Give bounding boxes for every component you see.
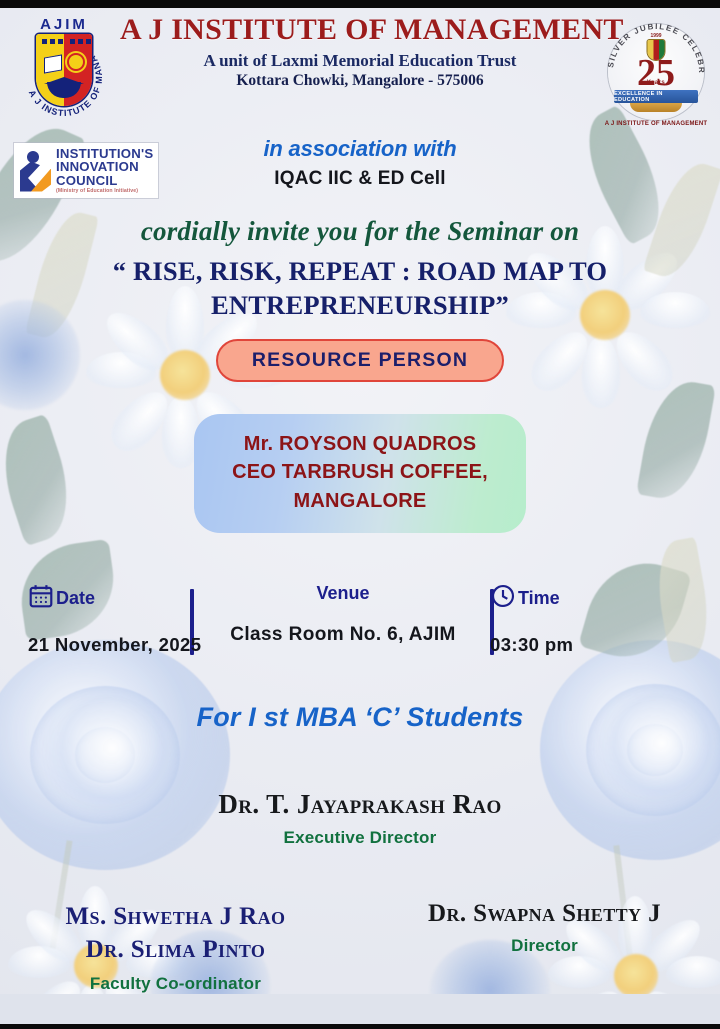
institute-name: A J INSTITUTE OF MANAGEMENT <box>120 14 600 46</box>
executive-director-name: Dr. T. Jayaprakash Rao <box>0 789 720 820</box>
jubilee-badge-icon: SILVER JUBILEE CELEBRATIONS 1999 25 Year… <box>600 18 712 126</box>
iic-line-2: INNOVATION <box>56 160 153 173</box>
venue-value: Class Room No. 6, AJIM <box>228 624 458 646</box>
iic-logo-text: INSTITUTION'S INNOVATION COUNCIL (Minist… <box>56 147 153 195</box>
signatory-coordinators: Ms. Shwetha J Rao Dr. Slima Pinto Facult… <box>6 900 365 994</box>
speaker-name: Mr. ROYSON QUADROS <box>210 430 510 458</box>
signatory-director: Dr. Swapna Shetty J Director <box>365 900 714 994</box>
resource-person-row: RESOURCE PERSON <box>0 339 720 382</box>
venue-block: Venue Class Room No. 6, AJIM <box>228 583 458 646</box>
time-label: Time <box>518 588 560 609</box>
speaker-card: Mr. ROYSON QUADROS CEO TARBRUSH COFFEE, … <box>194 414 526 533</box>
coordinator-name-1: Ms. Shwetha J Rao <box>6 900 345 933</box>
speaker-designation: CEO TARBRUSH COFFEE, <box>210 458 510 486</box>
top-edge-strip <box>0 0 720 8</box>
event-details-row: Date 21 November, 2025 Venue Class Room … <box>0 583 720 656</box>
bottom-edge-strip <box>0 1024 720 1029</box>
iic-subtitle: (Ministry of Education Initiative) <box>56 189 153 194</box>
jubilee-bottom-text: A J INSTITUTE OF MANAGEMENT <box>600 121 712 127</box>
poster-header: A J INSTITUTE OF MANAGEMENT AJIM <box>0 0 720 130</box>
resource-person-badge: RESOURCE PERSON <box>216 339 504 382</box>
date-block: Date 21 November, 2025 <box>10 583 228 656</box>
seminar-title-line-1: “ RISE, RISK, REPEAT : ROAD MAP TO <box>56 255 664 289</box>
jubilee-years-label: Years <box>600 80 712 86</box>
speaker-row: Mr. ROYSON QUADROS CEO TARBRUSH COFFEE, … <box>0 414 720 533</box>
silver-jubilee-logo: SILVER JUBILEE CELEBRATIONS 1999 25 Year… <box>600 18 712 126</box>
iic-mark-icon <box>18 149 52 193</box>
invite-line: cordially invite you for the Seminar on <box>0 216 720 247</box>
ajim-crest-icon: A J INSTITUTE OF MANAGEMENT AJIM <box>14 14 114 126</box>
venue-label: Venue <box>316 583 369 604</box>
iic-logo: INSTITUTION'S INNOVATION COUNCIL (Minist… <box>14 143 158 198</box>
ajim-acronym: AJIM <box>40 16 88 33</box>
venue-heading: Venue <box>228 583 458 604</box>
executive-director-role: Executive Director <box>0 828 720 848</box>
calendar-icon <box>28 583 54 614</box>
jubilee-ribbon-text: EXCELLENCE IN EDUCATION <box>614 90 698 103</box>
ajim-logo: A J INSTITUTE OF MANAGEMENT AJIM <box>14 14 114 126</box>
coordinator-name-2: Dr. Slima Pinto <box>6 933 345 966</box>
iic-line-1: INSTITUTION'S <box>56 147 153 160</box>
seminar-title: “ RISE, RISK, REPEAT : ROAD MAP TO ENTRE… <box>0 255 720 323</box>
footer-band <box>0 994 720 1024</box>
time-heading: Time <box>490 583 710 614</box>
director-role: Director <box>375 936 714 956</box>
coordinator-role: Faculty Co-ordinator <box>6 974 345 994</box>
signatory-row: Ms. Shwetha J Rao Dr. Slima Pinto Facult… <box>0 900 720 994</box>
time-value: 03:30 pm <box>490 634 710 656</box>
director-name: Dr. Swapna Shetty J <box>375 900 714 928</box>
clock-icon <box>490 583 516 614</box>
speaker-city: MANGALORE <box>210 487 510 515</box>
institute-unit-line: A unit of Laxmi Memorial Education Trust <box>120 51 600 71</box>
jubilee-top-year: 1999 <box>600 33 712 39</box>
ajim-shield-icon <box>36 34 92 106</box>
seminar-poster: A J INSTITUTE OF MANAGEMENT AJIM <box>0 0 720 1029</box>
iic-line-3: COUNCIL <box>56 174 153 187</box>
signatory-top: Dr. T. Jayaprakash Rao Executive Directo… <box>0 789 720 848</box>
date-label: Date <box>56 588 95 609</box>
institute-address: Kottara Chowki, Mangalore - 575006 <box>120 72 600 90</box>
date-value: 21 November, 2025 <box>28 634 228 656</box>
audience-line: For I st MBA ‘C’ Students <box>0 702 720 733</box>
date-heading: Date <box>28 583 228 614</box>
poster-content: A J INSTITUTE OF MANAGEMENT AJIM <box>0 0 720 994</box>
time-block: Time 03:30 pm <box>458 583 710 656</box>
seminar-title-line-2: ENTREPRENEURSHIP” <box>56 289 664 323</box>
jubilee-number: 25 <box>600 54 712 92</box>
